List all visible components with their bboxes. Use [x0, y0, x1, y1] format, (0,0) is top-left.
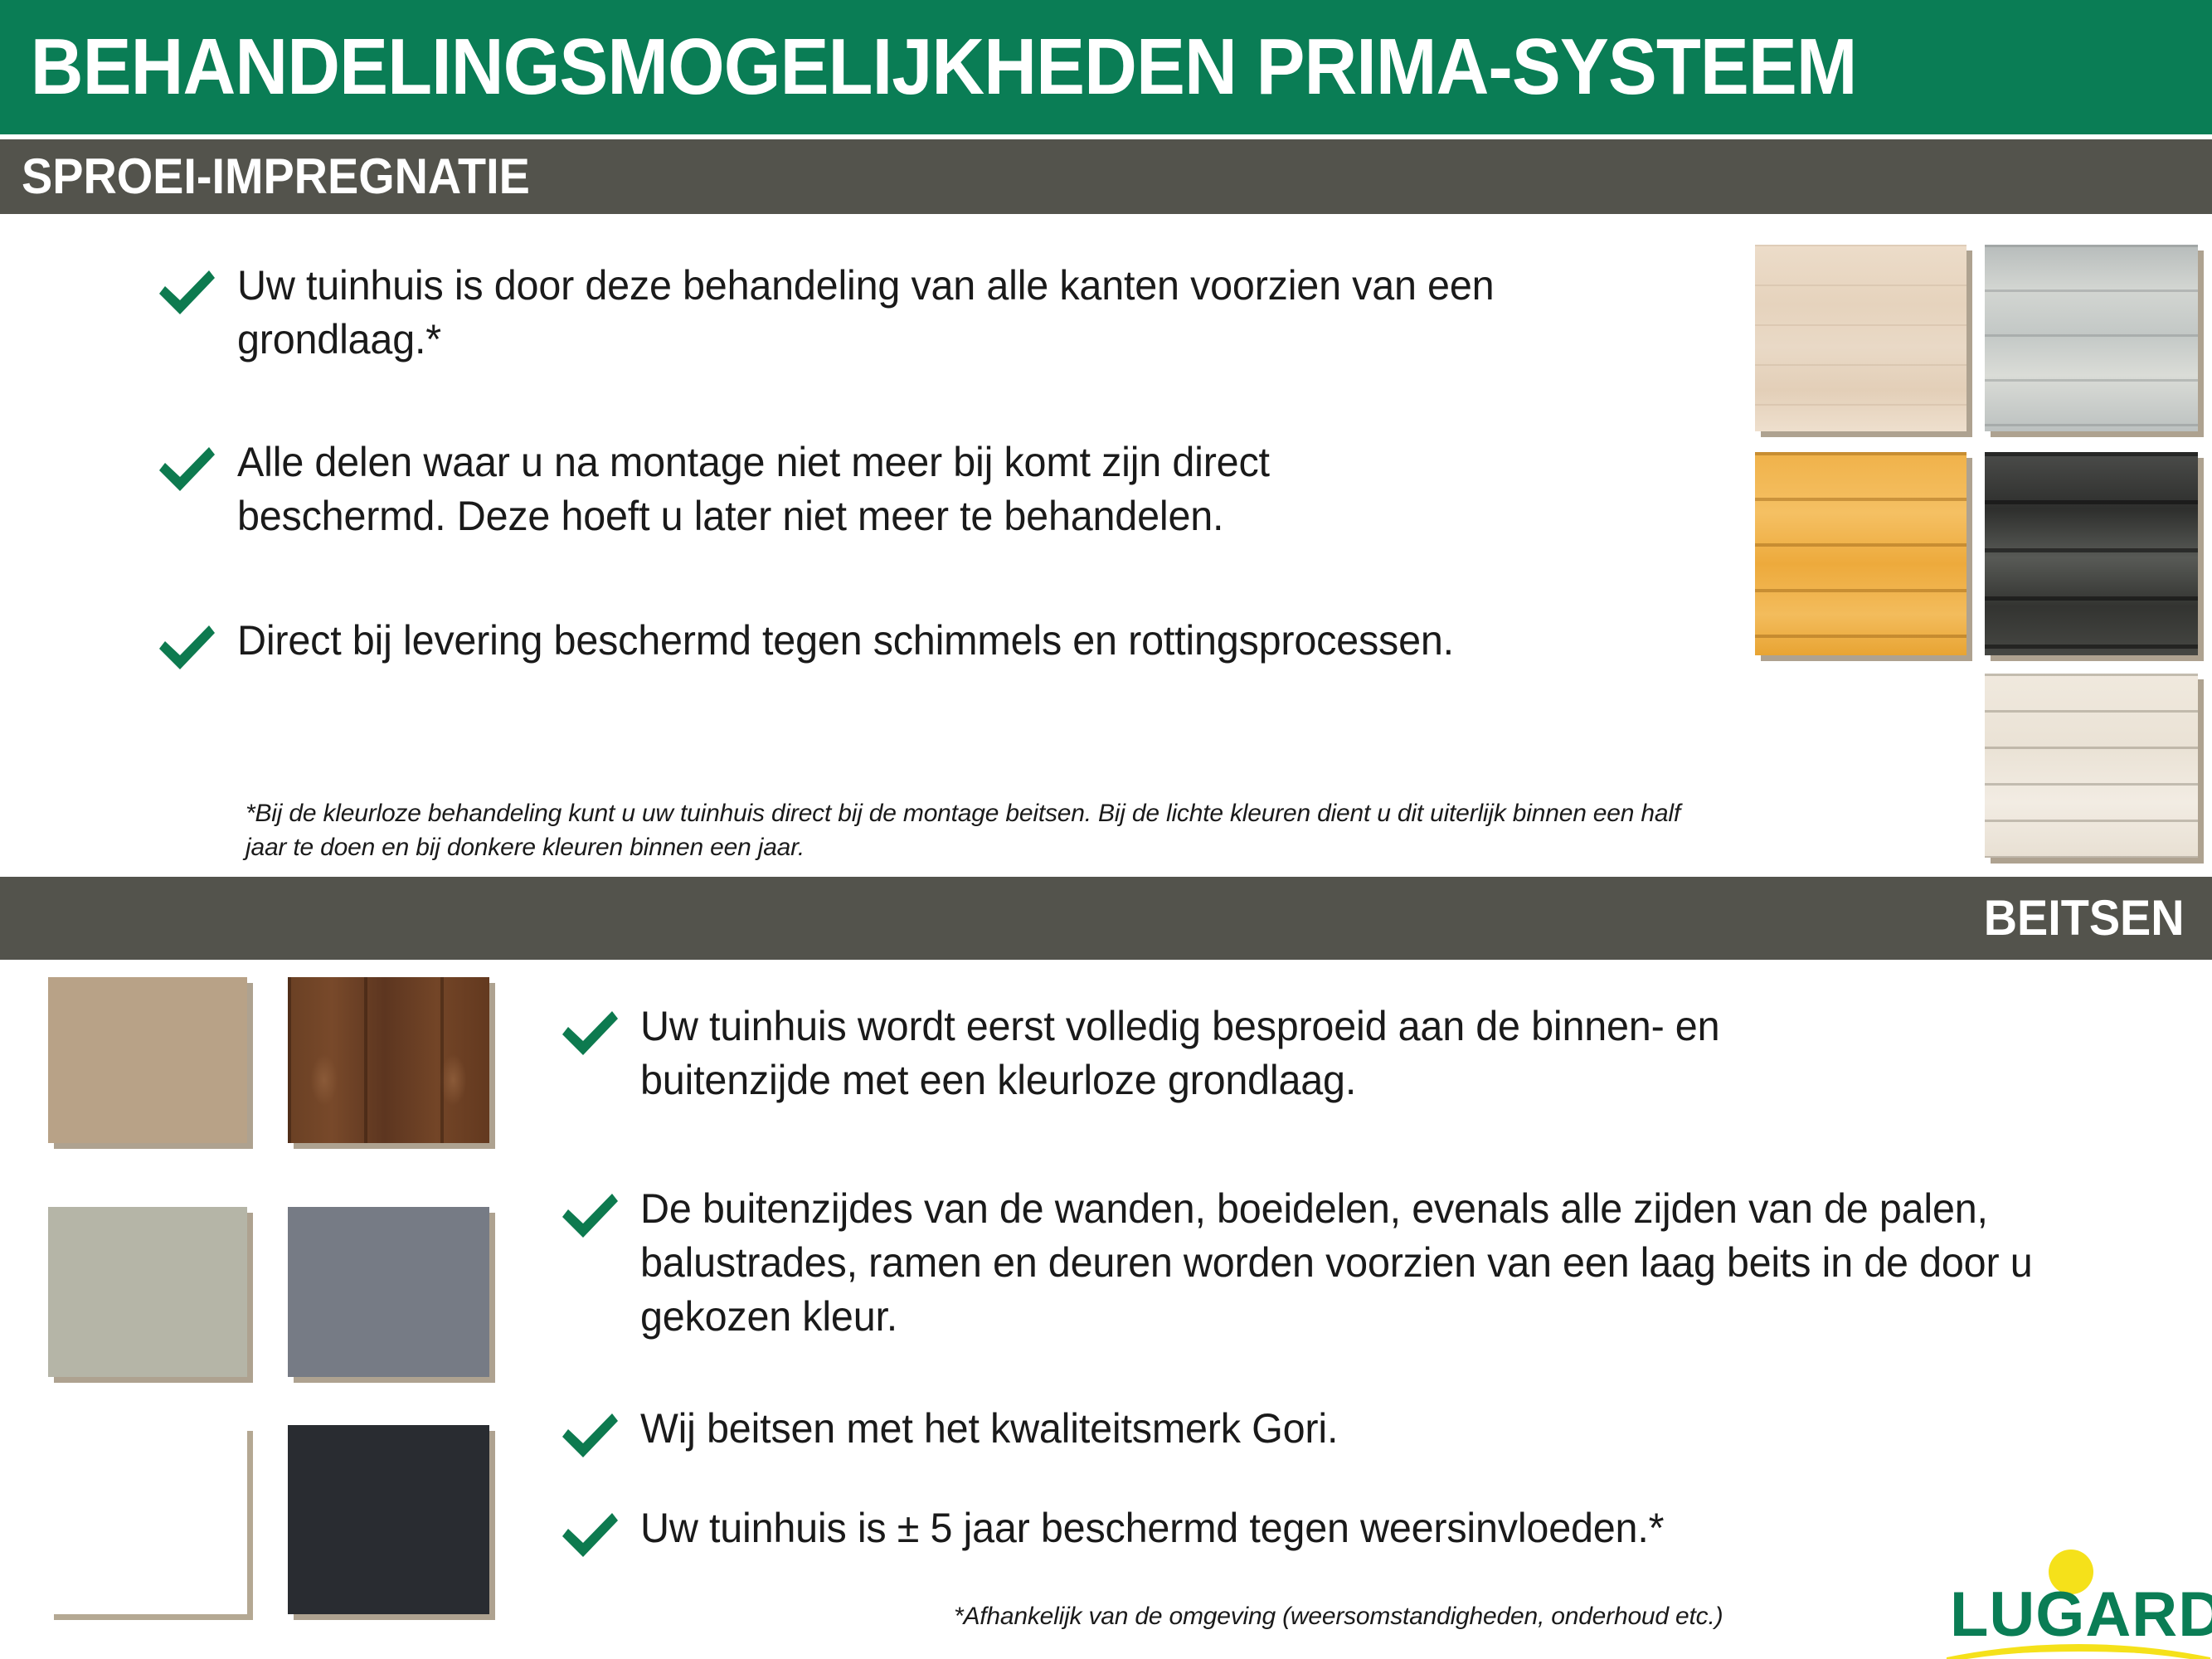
section1-footnote: *Bij de kleurloze behandeling kunt u uw …	[246, 796, 1722, 865]
list-item: De buitenzijdes van de wanden, boeidelen…	[557, 1182, 2108, 1344]
lugarde-logo: LUGARDE	[1945, 1543, 2212, 1659]
wood-texture	[1985, 674, 2198, 858]
list-item-text: Uw tuinhuis is door deze behandeling van…	[237, 259, 1573, 367]
section-label-beitsen: BEITSEN	[1984, 893, 2212, 943]
list-item-text: Wij beitsen met het kwaliteitsmerk Gori.	[640, 1402, 1338, 1456]
list-item: Direct bij levering beschermd tegen schi…	[154, 614, 1714, 679]
check-icon	[557, 1508, 622, 1566]
list-item: Uw tuinhuis wordt eerst volledig besproe…	[557, 1000, 1851, 1107]
anthracite-swatch	[288, 1425, 489, 1614]
page-title-bar: BEHANDELINGSMOGELIJKHEDEN PRIMA-SYSTEEM	[0, 0, 2212, 134]
section-label-sproei-impregnatie: SPROEI-IMPREGNATIE	[0, 152, 530, 202]
wood-texture	[1755, 245, 1966, 431]
white-wash-sample	[1985, 674, 2198, 858]
grey-wash-sample	[1985, 245, 2198, 431]
list-item-text: Uw tuinhuis is ± 5 jaar beschermd tegen …	[640, 1501, 1664, 1555]
check-icon	[154, 442, 219, 500]
wood-texture	[1755, 452, 1966, 655]
slate-grey-swatch	[288, 1207, 489, 1377]
honey-pine-sample	[1755, 452, 1966, 655]
list-item-text: Direct bij levering beschermd tegen schi…	[237, 614, 1454, 668]
list-item-text: Uw tuinhuis wordt eerst volledig besproe…	[640, 1000, 1815, 1107]
list-item: Uw tuinhuis is ± 5 jaar beschermd tegen …	[557, 1501, 1901, 1566]
beige-swatch	[48, 977, 247, 1143]
wood-texture	[1985, 452, 2198, 655]
ebony-sample	[1985, 452, 2198, 655]
svg-text:LUGARDE: LUGARDE	[1950, 1579, 2212, 1650]
check-icon	[154, 265, 219, 324]
list-item: Uw tuinhuis is door deze behandeling van…	[154, 259, 1614, 367]
page-title: BEHANDELINGSMOGELIJKHEDEN PRIMA-SYSTEEM	[0, 27, 1857, 107]
section-header-beitsen: BEITSEN	[0, 877, 2212, 960]
list-item-text: Alle delen waar u na montage niet meer b…	[237, 435, 1460, 543]
check-icon	[557, 1408, 622, 1467]
section-header-sproei-impregnatie: SPROEI-IMPREGNATIE	[0, 139, 2212, 214]
white-swatch	[48, 1425, 247, 1614]
light-grey-green-swatch	[48, 1207, 247, 1377]
dark-brown-wood-swatch	[288, 977, 489, 1143]
check-icon	[557, 1006, 622, 1064]
check-icon	[557, 1189, 622, 1247]
section2-footnote: *Afhankelijk van de omgeving (weersomsta…	[954, 1599, 1949, 1633]
list-item-text: De buitenzijdes van de wanden, boeidelen…	[640, 1182, 2064, 1344]
list-item: Alle delen waar u na montage niet meer b…	[154, 435, 1498, 543]
wood-texture	[1985, 245, 2198, 431]
check-icon	[154, 620, 219, 679]
natural-pine-sample	[1755, 245, 1966, 431]
list-item: Wij beitsen met het kwaliteitsmerk Gori.	[557, 1402, 1851, 1467]
wood-texture	[288, 977, 489, 1143]
